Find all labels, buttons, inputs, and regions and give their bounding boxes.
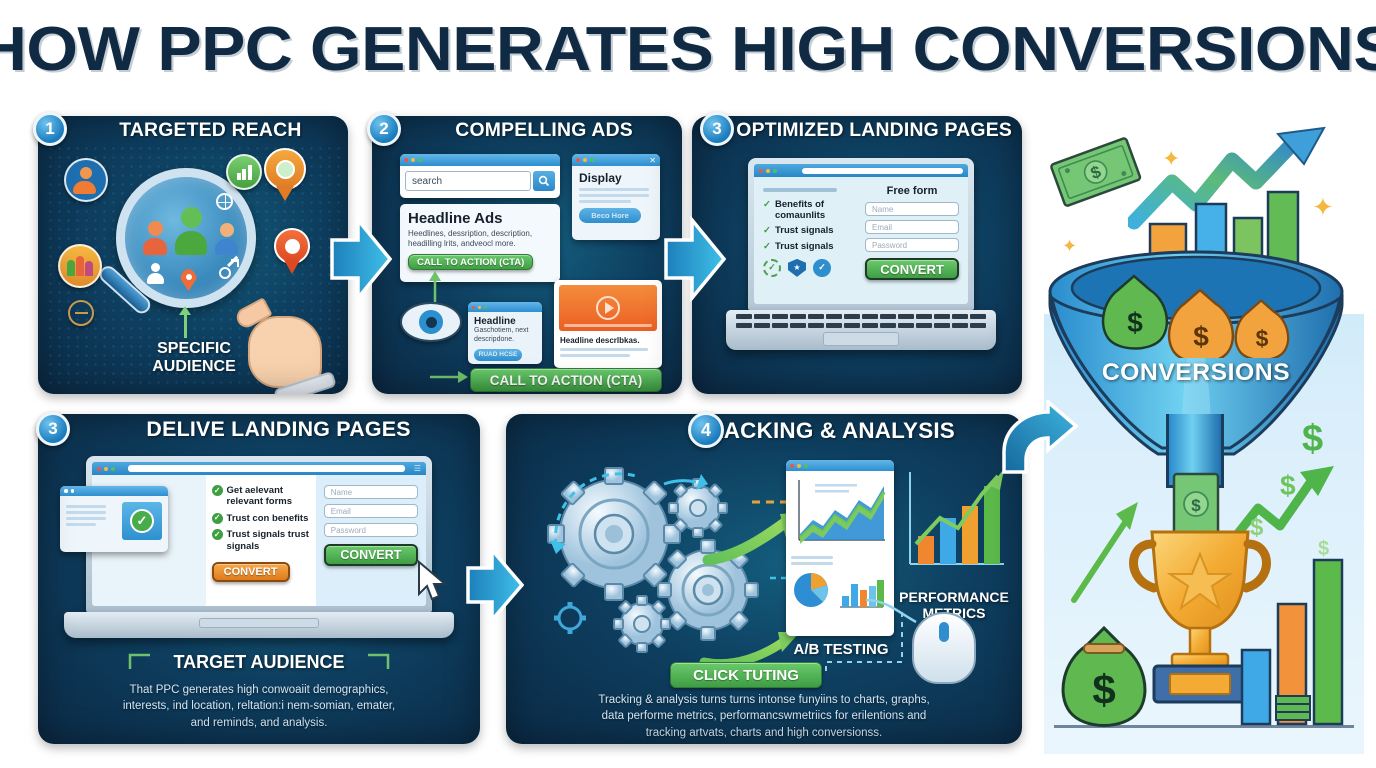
panel-compelling-ads[interactable]: COMPELLING ADS search Headline Ads Heedl…: [372, 116, 682, 394]
bracket-left-icon: [124, 652, 152, 672]
green-arrow-up: [422, 268, 448, 304]
panel-5-caption-line-2: data performe metrics, performancswmetri…: [530, 708, 998, 724]
svg-text:$: $: [1256, 325, 1269, 351]
bottom-bar-chart: [1236, 544, 1346, 728]
maximize-dot: [484, 306, 487, 309]
ground-line: [1054, 725, 1354, 728]
check-icon: ✓: [212, 529, 223, 540]
window-dot: [71, 489, 75, 493]
text-line: [763, 188, 837, 192]
maximize-dot: [804, 464, 808, 468]
panel-2-title: COMPELLING ADS: [455, 120, 633, 142]
laptop-keyboard-base: [64, 612, 454, 638]
minimize-dot: [478, 306, 481, 309]
sparkle-icon: ✦: [1312, 192, 1334, 223]
video-caption: Headline descrlbkas.: [560, 336, 656, 345]
click-tracking-button[interactable]: CLICK TUTING: [670, 662, 822, 688]
close-dot: [472, 306, 475, 309]
convert-button[interactable]: CONVERT: [865, 258, 959, 280]
convert-button-green[interactable]: CONVERT: [324, 544, 418, 566]
close-dot: [404, 158, 408, 162]
svg-text:$: $: [1092, 666, 1115, 713]
play-icon[interactable]: [596, 296, 620, 320]
mini-ad-body-1: Gaschotiem, next: [474, 327, 536, 336]
check-seal-icon: ✓: [763, 259, 781, 277]
shield-icon: ★: [788, 259, 806, 277]
map-pin-icon-orange: [264, 148, 306, 204]
bracket-right-icon: [366, 652, 394, 672]
area-line-chart: [791, 476, 889, 548]
search-icon[interactable]: [533, 171, 555, 191]
close-dot: [576, 158, 580, 162]
text-line: [579, 194, 649, 197]
page-title: HOW PPC GENERATES HIGH CONVERSIONS: [0, 14, 1376, 85]
svg-text:$: $: [1191, 496, 1201, 515]
laptop-screen-bezel: ✓ Benefits of comaunlits ✓ Trust signals…: [748, 158, 974, 310]
arrow-connector-stub: [688, 228, 698, 288]
dollar-symbol: $: [1302, 418, 1323, 461]
panel-targeted-reach[interactable]: TARGETED REACH: [38, 116, 348, 394]
mini-ad-body-2: descripdone.: [474, 336, 536, 345]
arrow-step-1-to-2: [330, 216, 392, 302]
up-arrow-shaft: [184, 312, 187, 338]
chart-bars-icon: [226, 154, 262, 190]
check-icon: ✓: [763, 225, 771, 236]
panel-1-label: SPECIFIC AUDIENCE: [124, 340, 264, 376]
mouse-wheel: [939, 622, 949, 642]
panel-4-caption-line-3: and reminds, and analysis.: [60, 715, 458, 731]
laptop-keyboard-base: [726, 310, 996, 350]
panel-optimized-landing-pages[interactable]: OPTIMIZED LANDING PAGES ✓: [692, 116, 1022, 394]
window-titlebar: [400, 154, 560, 166]
money-bag-icon: $: [1058, 618, 1154, 728]
laptop-trackpad: [199, 618, 319, 628]
floating-preview-window[interactable]: ✓: [60, 486, 168, 552]
up-arrow-head: [179, 306, 191, 315]
benefit-item: Trust signals trust signals: [227, 529, 310, 552]
mini-ad-button[interactable]: RUAD HCSE: [474, 349, 522, 361]
conversions-column: $ ✦ ✦ ✦: [1044, 118, 1364, 754]
panel-1-title: TARGETED REACH: [119, 120, 301, 142]
panel-1-badge: 1: [33, 112, 67, 146]
password-field[interactable]: Password: [324, 523, 418, 537]
address-bar[interactable]: [128, 465, 405, 472]
text-line: [560, 354, 630, 357]
panel-5-title: TRACKING & ANALYSIS: [693, 418, 955, 444]
name-field[interactable]: Name: [324, 485, 418, 499]
check-seal-icon: ✓: [130, 509, 154, 533]
dollar-symbol: $: [1280, 470, 1296, 502]
panel-5-caption-line-3: tracking artvats, charts and high conver…: [530, 725, 998, 741]
window-dot: [64, 489, 68, 493]
check-icon: ✓: [763, 199, 771, 221]
sparkle-icon: ✦: [1162, 146, 1180, 172]
close-dot: [97, 467, 101, 471]
green-arrow-right: [428, 366, 472, 388]
maximize-dot: [773, 169, 777, 173]
text-line: [579, 200, 631, 203]
video-thumbnail[interactable]: [559, 285, 657, 331]
video-progress-bar[interactable]: [564, 324, 652, 327]
computer-mouse-icon: [912, 612, 976, 684]
minimize-dot: [104, 467, 108, 471]
panel-4-title: DELIVE LANDING PAGES: [147, 418, 411, 442]
benefit-item: Benefits of comaunlits: [775, 199, 861, 221]
email-field[interactable]: Email: [865, 220, 959, 234]
map-pin-icon-red: [274, 228, 310, 278]
map-pin-icon: [180, 269, 197, 291]
eye-icon: [400, 302, 462, 348]
mini-ad-window[interactable]: Headline Gaschotiem, next descripdone. R…: [468, 302, 542, 364]
svg-text:$: $: [1127, 307, 1143, 338]
close-dot: [790, 464, 794, 468]
check-icon: ✓: [212, 485, 223, 496]
display-ad-title: Display: [579, 171, 653, 185]
benefit-item: Get aelevant relevant forms: [227, 485, 310, 508]
display-ad-button[interactable]: Beco Hore: [579, 208, 641, 223]
ad-body-line-2: headilling lrits, andveocl more.: [408, 239, 552, 249]
close-dot: [759, 169, 763, 173]
panel-5-badge: 4: [688, 412, 724, 448]
gender-icon-small: [68, 300, 94, 326]
panel-5-caption-line-1: Tracking & analysis turns turns intonse …: [530, 692, 998, 708]
text-line: [560, 348, 648, 351]
text-line: [579, 188, 649, 191]
benefit-item: Trust con benefits: [227, 513, 309, 524]
user-icon: [64, 158, 108, 202]
maximize-dot: [418, 158, 422, 162]
panel-4-badge: 3: [36, 412, 70, 446]
gender-icon: [219, 259, 239, 279]
dotted-connector-icon: [822, 610, 908, 680]
laptop-trackpad: [823, 332, 899, 346]
arrow-to-conversions: [1000, 400, 1080, 492]
password-field[interactable]: Password: [865, 238, 959, 252]
group-icon: [58, 244, 102, 288]
check-icon: ✓: [212, 513, 223, 524]
panel-3-title: OPTIMIZED LANDING PAGES: [736, 120, 1012, 142]
minimize-dot: [797, 464, 801, 468]
maximize-dot: [590, 158, 594, 162]
arrow-step-4-to-5: [466, 546, 524, 624]
panel-4-caption-line-2: interests, ind location, reltation:i nem…: [60, 698, 458, 714]
conversions-label: CONVERSIONS: [1077, 360, 1316, 387]
check-icon: ✓: [763, 241, 771, 252]
ad-body-line-1: Heedlines, dessription, description,: [408, 229, 552, 239]
benefit-item: Trust signals: [775, 241, 834, 252]
email-field[interactable]: Email: [324, 504, 418, 518]
menu-icon[interactable]: ☰: [414, 464, 421, 473]
minimize-dot: [411, 158, 415, 162]
panel-tracking-analysis[interactable]: TRACKING & ANALYSIS: [506, 414, 1022, 744]
panel-4-caption-line-1: That PPC generates high conwoaiit demogr…: [60, 682, 458, 698]
search-input[interactable]: search: [405, 171, 531, 191]
mouse-cursor-icon: [416, 560, 450, 604]
verified-icon: ✓: [813, 259, 831, 277]
name-field[interactable]: Name: [865, 202, 959, 216]
money-bags-icon: $ $ $: [1096, 268, 1316, 358]
maximize-dot: [111, 467, 115, 471]
close-icon[interactable]: ✕: [649, 156, 656, 165]
panel-delive-landing-pages[interactable]: DELIVE LANDING PAGES ☰: [38, 414, 480, 744]
panel-4-label: TARGET AUDIENCE: [158, 652, 360, 672]
display-ad-window[interactable]: ✕ Display Beco Hore: [572, 154, 660, 240]
video-ad-card[interactable]: Headline descrlbkas.: [554, 280, 662, 368]
form-title: Free form: [865, 185, 959, 197]
benefit-item: Trust signals: [775, 225, 834, 236]
svg-text:$: $: [1193, 321, 1209, 352]
globe-icon: [216, 193, 233, 210]
panel-3-badge: 3: [700, 112, 734, 146]
performance-metrics-chart: [904, 466, 1008, 582]
ad-headline: Headline Ads: [408, 210, 552, 227]
minimize-dot: [583, 158, 587, 162]
mini-ad-headline: Headline: [474, 316, 536, 327]
pie-chart: [791, 570, 831, 610]
address-bar[interactable]: [802, 168, 963, 174]
cta-button-large[interactable]: CALL TO ACTION (CTA): [470, 368, 662, 392]
infographic-canvas: HOW PPC GENERATES HIGH CONVERSIONS TARGE…: [0, 0, 1376, 768]
minimize-dot: [766, 169, 770, 173]
search-ad-window[interactable]: search: [400, 154, 560, 198]
convert-button-orange[interactable]: CONVERT: [212, 562, 290, 582]
panel-2-badge: 2: [367, 112, 401, 146]
